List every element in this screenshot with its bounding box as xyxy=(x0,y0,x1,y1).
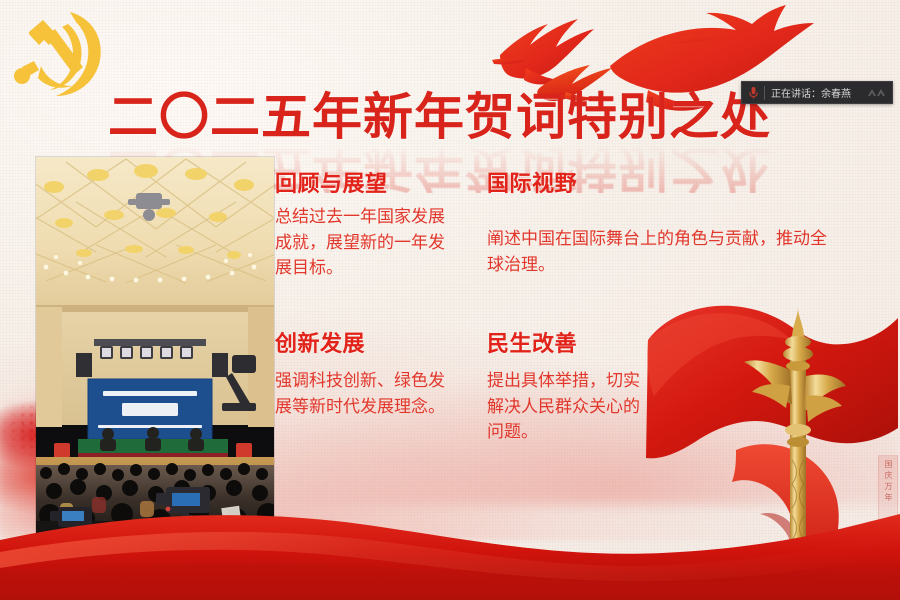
speaker-status-overlay: 正在讲话：余春燕 xyxy=(741,81,893,104)
speaker-name-text: 正在讲话：余春燕 xyxy=(771,85,866,100)
block-body: 强调科技创新、绿色发展等新时代发展理念。 xyxy=(275,368,445,419)
overlay-divider xyxy=(764,86,765,100)
block-heading: 创新发展 xyxy=(275,332,445,356)
block-body: 总结过去一年国家发展成就，展望新的一年发展目标。 xyxy=(275,204,445,281)
block-body: 阐述中国在国际舞台上的角色与贡献，推动全球治理。 xyxy=(487,226,837,277)
audio-wave-icon xyxy=(866,86,888,100)
content-block-livelihood-improvement: 民生改善 提出具体举措，切实解决人民群众关心的问题。 xyxy=(487,332,652,445)
block-heading: 回顾与展望 xyxy=(275,172,445,196)
content-block-international-vision: 国际视野 阐述中国在国际舞台上的角色与贡献，推动全球治理。 xyxy=(487,172,837,277)
hammer-and-sickle-icon xyxy=(8,4,112,108)
presentation-slide: 二〇二五年新年贺词特别之处 二〇二五年新年贺词特别之处 xyxy=(0,0,900,600)
content-block-review-outlook: 回顾与展望 总结过去一年国家发展成就，展望新的一年发展目标。 xyxy=(275,172,445,281)
block-heading: 国际视野 xyxy=(487,172,837,196)
block-body: 提出具体举措，切实解决人民群众关心的问题。 xyxy=(487,368,652,445)
seal-char: 庆 xyxy=(884,471,892,479)
block-heading: 民生改善 xyxy=(487,332,652,356)
page-title: 二〇二五年新年贺词特别之处 xyxy=(108,92,771,142)
microphone-icon xyxy=(746,85,761,100)
seal-char: 国 xyxy=(884,460,892,468)
bottom-red-silk-band xyxy=(0,480,900,600)
content-block-innovation-development: 创新发展 强调科技创新、绿色发展等新时代发展理念。 xyxy=(275,332,445,419)
